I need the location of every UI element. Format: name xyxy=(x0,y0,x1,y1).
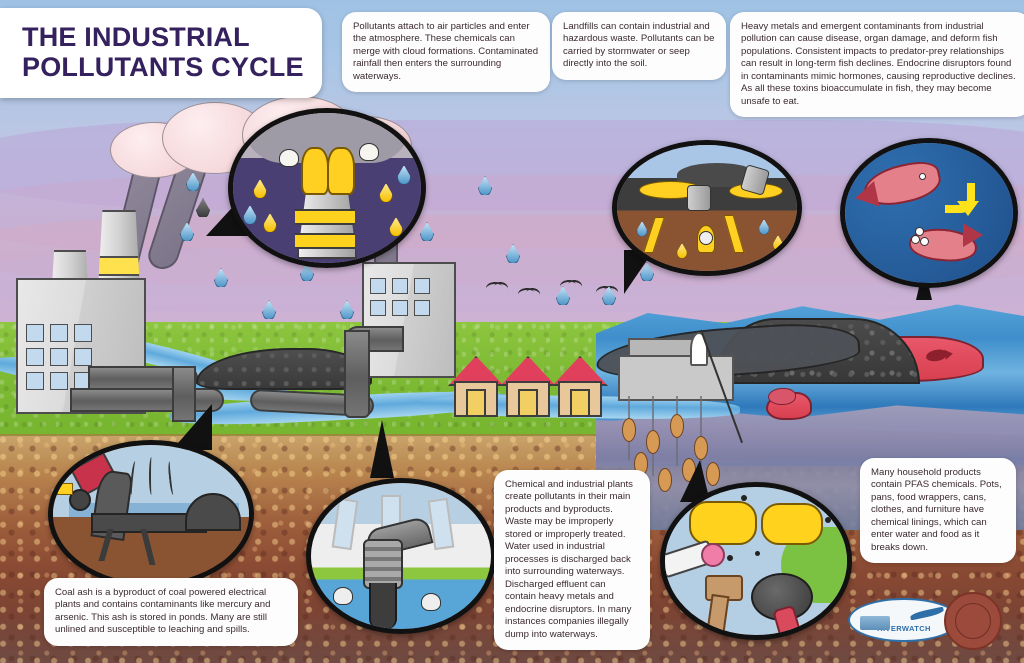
coal-ash-pond-inset xyxy=(48,440,254,588)
toxic-plume-right xyxy=(327,147,355,195)
waste-barrel-1 xyxy=(687,185,711,211)
caught-fish xyxy=(768,388,796,405)
chem-plant-windows xyxy=(370,278,430,316)
bird-1 xyxy=(485,281,502,294)
chemical-cloud-1 xyxy=(689,501,757,545)
coal-ash-callout: Coal ash is a byproduct of coal powered … xyxy=(44,578,298,646)
plant-windows xyxy=(26,324,92,390)
smokestack-inset xyxy=(228,108,426,268)
house-2 xyxy=(500,356,552,416)
deformed-fish-eye-1 xyxy=(911,235,920,244)
skull-icon-water-left xyxy=(333,587,353,605)
chemical-cloud-2 xyxy=(761,503,823,545)
effluent-discharge xyxy=(369,583,397,629)
seal-inner-emblem xyxy=(955,603,991,639)
infographic-poster: THE INDUSTRIAL POLLUTANTS CYCLE Pollutan… xyxy=(0,0,1024,663)
effluent-inset-tail xyxy=(370,420,394,478)
pfas-products-inset xyxy=(660,482,852,640)
title-line-1: THE INDUSTRIAL xyxy=(22,22,250,52)
fume-line-2 xyxy=(149,457,154,495)
chem-discharge-pipe-down xyxy=(344,330,370,418)
landfill-callout: Landfills can contain industrial and haz… xyxy=(552,12,726,80)
air-pollution-callout: Pollutants attach to air particles and e… xyxy=(342,12,550,92)
bird-2 xyxy=(517,287,534,300)
effluent-pipe-body xyxy=(363,539,403,589)
spray-nozzle xyxy=(701,543,725,567)
toxic-plume-left xyxy=(301,147,329,195)
landfill-inset xyxy=(612,140,802,276)
deformed-fish-inset xyxy=(840,138,1018,288)
skull-icon-buried xyxy=(699,231,713,245)
pfas-callout: Many household products contain PFAS che… xyxy=(860,458,1016,563)
deformed-fish-eye-2 xyxy=(920,237,929,246)
skull-icon-right xyxy=(359,143,379,161)
fish-health-callout: Heavy metals and emergent contaminants f… xyxy=(730,12,1024,117)
industrial-discharge-callout: Chemical and industrial plants create po… xyxy=(494,470,650,650)
page-title: THE INDUSTRIAL POLLUTANTS CYCLE xyxy=(0,8,322,98)
outfall-marker-buoy xyxy=(690,332,708,366)
title-line-2: POLLUTANTS CYCLE xyxy=(22,52,304,82)
house-1 xyxy=(448,356,500,416)
transformation-arrow xyxy=(945,183,975,213)
effluent-pipe-inset xyxy=(306,478,496,634)
skull-icon-left xyxy=(279,149,299,167)
skull-icon-water-right xyxy=(421,593,441,611)
deformed-fish-eye-3 xyxy=(915,227,924,236)
water-quality-seal-logo[interactable]: WATER QUALITY FOR FISHABLE xyxy=(944,592,1002,650)
